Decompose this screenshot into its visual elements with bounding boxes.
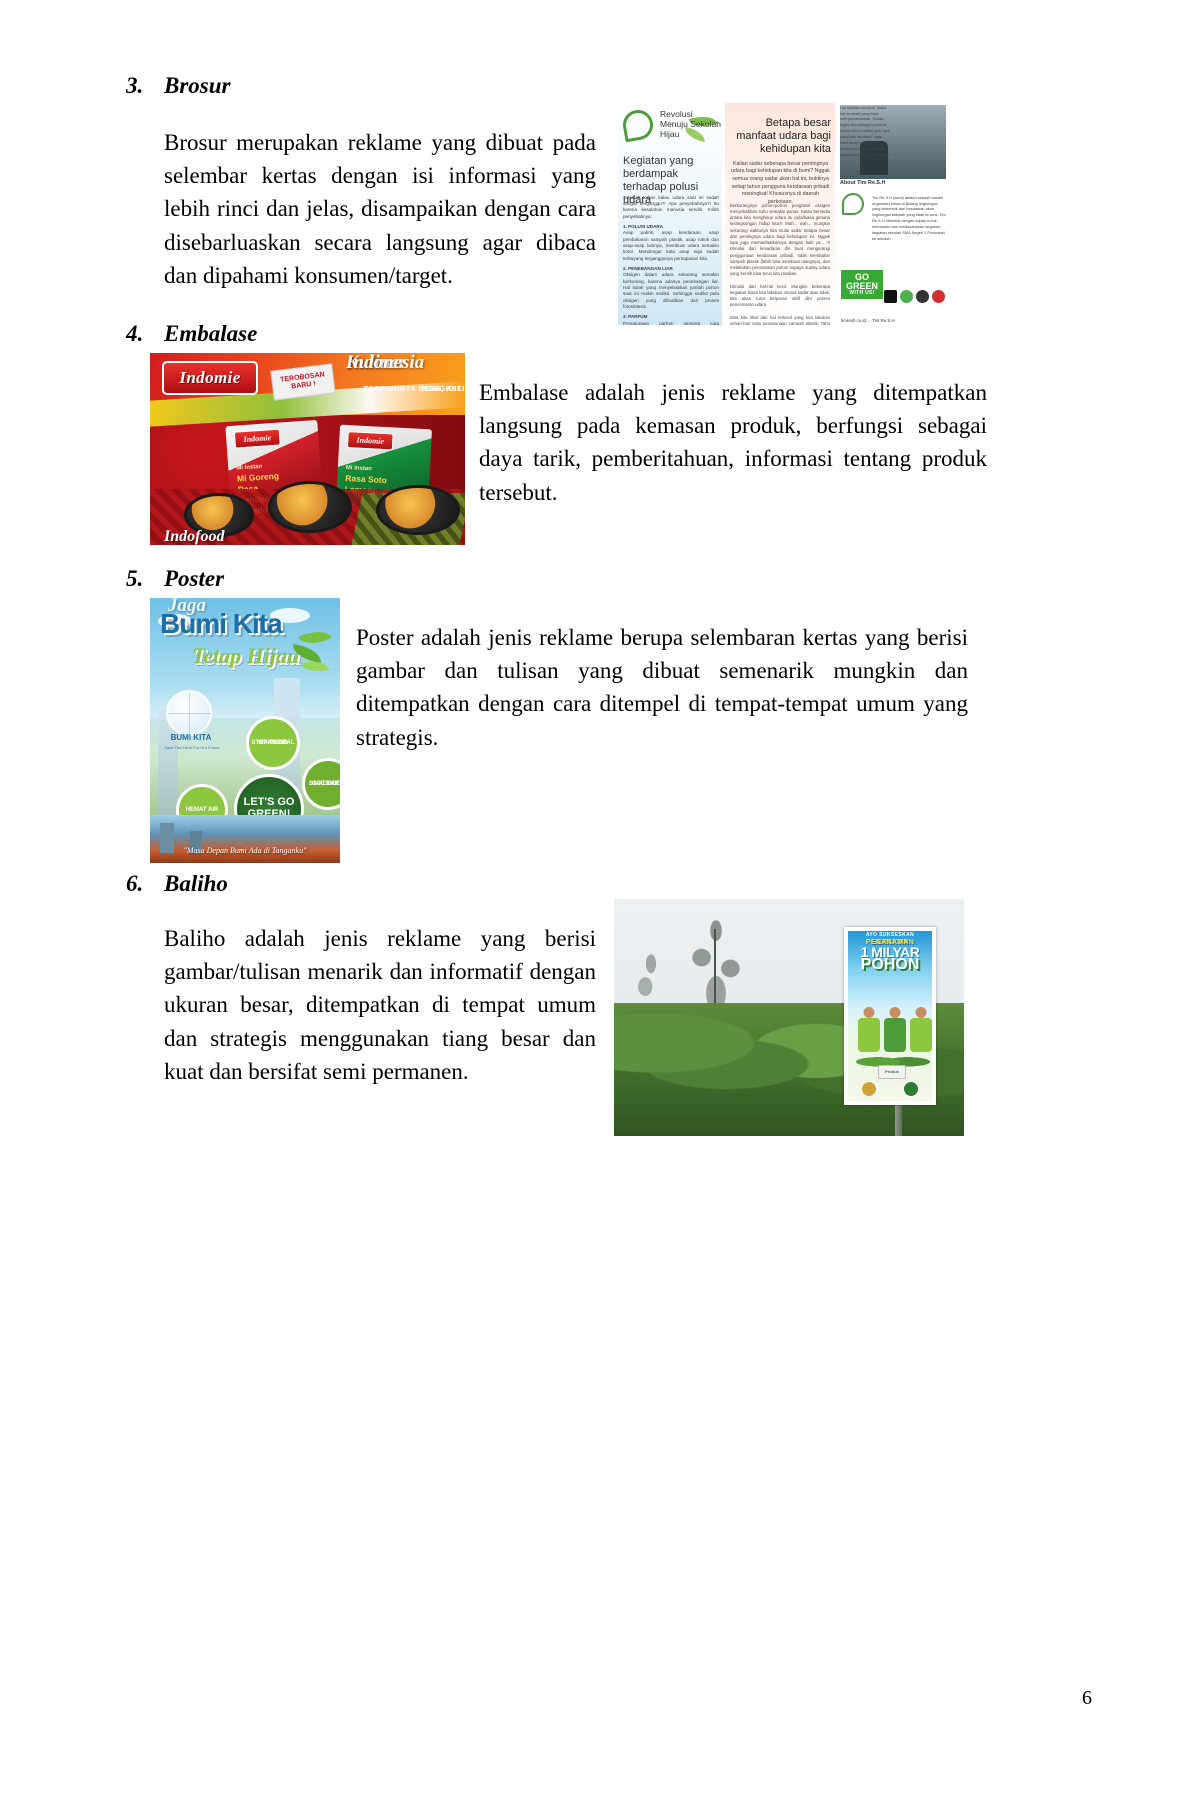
item-number: 5. [126, 565, 164, 594]
revolusi-logo-icon [842, 193, 868, 219]
heading-baliho: 6. Baliho [126, 870, 1086, 899]
brosur-leaflet-image: Revolusi Menuju Sekolah Hijau Kegiatan y… [618, 103, 951, 325]
brosur-partner-logos [884, 290, 945, 303]
brosur-panel2-heading: Betapa besar manfaat udara bagi kehidupa… [731, 117, 831, 156]
billboard-banner: AYO SUKSESKAN GERAKAN PENANAMAN 1 MILYAR… [844, 927, 936, 1105]
brosur-panel2-para: Berkurangnya pohon-pohon penghasil oksig… [730, 203, 830, 276]
item-number: 4. [126, 320, 164, 349]
poster-city-skyline [150, 815, 340, 863]
brosur-panel1-intro: Tahukah kalian kalau udara saat ini suda… [623, 195, 719, 219]
brosur-panel2-para: Dimulai dari hal-hal kecil. Mungkin bebe… [730, 284, 830, 308]
item-title: Poster [164, 565, 224, 594]
brosur-panel-1: Revolusi Menuju Sekolah Hijau Kegiatan y… [618, 103, 722, 325]
brosur-panel-3: Hal fasilitas menjadi. Maka hal terdirad… [838, 103, 948, 325]
noodle-bowl [376, 485, 460, 535]
item-number: 3. [126, 72, 164, 101]
section-item-poster: 5. Poster Jaga Bumi Kita Tetap Hijau BUM… [126, 565, 1086, 863]
go-green-text: GO GREEN [846, 272, 878, 291]
heading-poster: 5. Poster [126, 565, 1086, 594]
paragraph-embalase: Embalase adalah jenis reklame yang ditem… [479, 376, 987, 509]
brosur-panel2-body: Berkurangnya pohon-pohon penghasil oksig… [730, 203, 830, 325]
brosur-sec-text: Oksigen dalam udara sekarang semakin ber… [623, 272, 719, 309]
baliho-billboard-photo: AYO SUKSESKAN GERAKAN PENANAMAN 1 MILYAR… [614, 899, 964, 1136]
brosur-sec-text: Asap pabrik, asap kendaraan, asap pembak… [623, 230, 719, 260]
embalase-figure: Indomie TEROBOSAN BARU ! Kuliner Indones… [150, 353, 465, 545]
poster-jaga-bumi-kita-image: Jaga Bumi Kita Tetap Hijau BUMI KITA Sav… [150, 598, 340, 863]
heading-brosur: 3. Brosur [126, 72, 1086, 101]
indomie-logo: Indomie [347, 431, 394, 450]
tree-silhouette [668, 909, 764, 1017]
brosur-panel1-body: Tahukah kalian kalau udara saat ini suda… [623, 195, 719, 325]
pack-kind: Mi Instan [236, 464, 262, 472]
poster-figure: Jaga Bumi Kita Tetap Hijau BUMI KITA Sav… [150, 598, 340, 863]
poster-badge-plant-icon: STOP GLOBAL WARMING [246, 716, 300, 770]
page-number: 6 [1082, 1687, 1092, 1710]
paragraph-poster: Poster adalah jenis reklame berupa selem… [356, 621, 968, 754]
document-page: 3. Brosur Brosur merupakan reklame yang … [0, 0, 1178, 1800]
brosur-panel-2: Betapa besar manfaat udara bagi kehidupa… [725, 103, 835, 325]
embalase-indomie-packaging-image: Indomie TEROBOSAN BARU ! Kuliner Indones… [150, 353, 465, 545]
brosur-about-text: Tim Re.S.H (kami) adalah sebuah wadah or… [872, 195, 946, 242]
leaf-group-icon [284, 628, 336, 676]
wwf-logo-icon [884, 290, 897, 303]
red-seal-logo-icon [932, 290, 945, 303]
gold-seal-icon [861, 1081, 877, 1097]
poster-badge-leaf-icon: GO GREEN SAVE EARTH [302, 758, 340, 810]
section-item-embalase: 4. Embalase Indomie TEROBOSAN BARU ! Kul… [126, 320, 1086, 545]
green-seal-icon [903, 1081, 919, 1097]
dark-seal-logo-icon [916, 290, 929, 303]
noodle-bowl [268, 481, 352, 533]
indomie-brand-text: Indomie [244, 437, 271, 439]
brosur-side-text: Hal fasilitas menjadi. Maka hal terdirad… [840, 105, 890, 158]
section-item-brosur: 3. Brosur Brosur merupakan reklame yang … [126, 72, 1086, 325]
item-title: Embalase [164, 320, 257, 349]
pack-kind: Mi Instan [346, 465, 372, 472]
indomie-brand-text: Indomie [357, 440, 385, 441]
brosur-figure: Revolusi Menuju Sekolah Hijau Kegiatan y… [618, 103, 951, 325]
globe-icon [166, 690, 212, 736]
item-title: Brosur [164, 72, 230, 101]
paragraph-brosur: Brosur merupakan reklame yang dibuat pad… [164, 126, 596, 293]
banner-seals [848, 1081, 932, 1097]
go-green-sub: WITH US! [843, 291, 881, 296]
badge-text: TEROBOSAN BARU ! [272, 370, 334, 393]
item-title: Baliho [164, 870, 228, 899]
banner-product-label: Produk [878, 1065, 906, 1079]
baliho-figure: AYO SUKSESKAN GERAKAN PENANAMAN 1 MILYAR… [614, 899, 964, 1136]
brosur-logo-title: Revolusi Menuju Sekolah Hijau [660, 109, 722, 140]
section-item-baliho: 6. Baliho Baliho adalah jenis reklame ya… [126, 870, 1086, 1136]
heading-embalase: 4. Embalase [126, 320, 1086, 349]
go-green-badge: GO GREEN WITH US! [841, 270, 883, 299]
revolusi-logo-icon [623, 110, 657, 144]
brosur-panel2-lead: Kalian sadar seberapa besar pentingnya u… [729, 161, 832, 207]
green-seal-logo-icon [900, 290, 913, 303]
indomie-logo: Indomie [234, 428, 281, 448]
paragraph-baliho: Baliho adalah jenis reklame yang berisi … [164, 922, 596, 1089]
item-number: 6. [126, 870, 164, 899]
indomie-logo: Indomie [162, 361, 258, 395]
